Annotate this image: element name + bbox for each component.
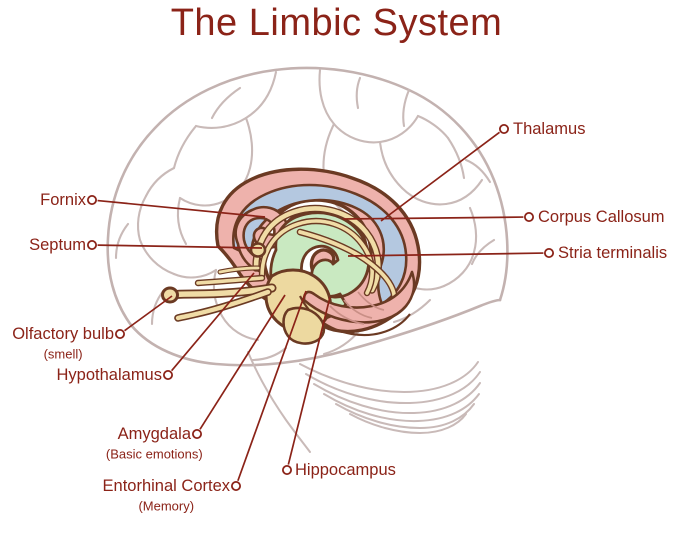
leader-thalamus — [381, 125, 508, 221]
leader-dot — [88, 196, 96, 204]
label-amygdala-sub: (Basic emotions) — [106, 448, 203, 461]
label-stria-terminalis: Stria terminalis — [558, 245, 667, 262]
label-olfactory-bulb-sub: (smell) — [44, 348, 83, 361]
label-hippocampus: Hippocampus — [295, 462, 396, 479]
leader-line — [172, 273, 254, 371]
label-entorhinal-cortex: Entorhinal Cortex — [103, 478, 230, 495]
label-entorhinal-cortex-sub: (Memory) — [138, 500, 194, 513]
label-olfactory-bulb: Olfactory bulb — [12, 326, 114, 343]
leader-line — [381, 132, 500, 221]
leader-dot — [193, 430, 201, 438]
leader-dot — [232, 482, 240, 490]
label-fornix: Fornix — [40, 192, 86, 209]
leader-line — [125, 296, 172, 331]
leader-dot — [525, 213, 533, 221]
label-thalamus: Thalamus — [513, 121, 585, 138]
label-septum: Septum — [29, 237, 86, 254]
label-hypothalamus: Hypothalamus — [57, 367, 162, 384]
label-corpus-callosum: Corpus Callosum — [538, 209, 665, 226]
leader-amygdala — [193, 295, 285, 438]
leader-dot — [164, 371, 172, 379]
cerebellum-outline — [248, 352, 480, 452]
leader-line — [238, 291, 306, 481]
septum-body — [251, 244, 265, 257]
leader-dot — [116, 330, 124, 338]
limbic-system-diagram: The Limbic System — [0, 0, 673, 542]
leader-dot — [545, 249, 553, 257]
leader-dot — [500, 125, 508, 133]
label-amygdala: Amygdala — [118, 426, 191, 443]
leader-line — [200, 295, 285, 429]
leader-dot — [88, 241, 96, 249]
leader-dot — [283, 466, 291, 474]
